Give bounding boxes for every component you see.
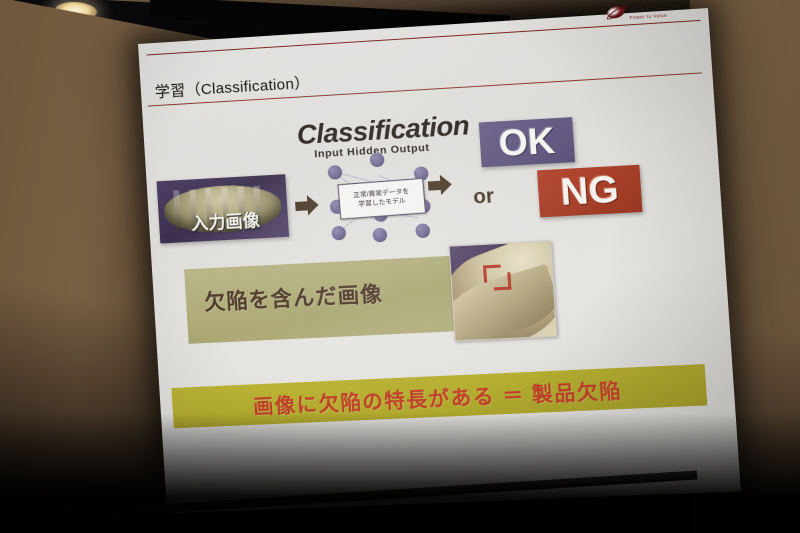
photo-of-projected-slide: 11 / 28 MUSASHi Power to Value 学習（Classi… <box>0 0 800 533</box>
ng-label: NG <box>537 164 643 219</box>
ng-result-badge: NG <box>537 165 642 218</box>
defect-photo <box>449 240 558 341</box>
foreground-shadow <box>0 413 800 533</box>
input-image-card: 入力画像 <box>157 174 290 243</box>
logo-tagline: Power to Value <box>629 12 691 20</box>
input-image-label: 入力画像 <box>162 204 288 236</box>
musashi-logo: MUSASHi Power to Value <box>607 0 692 22</box>
or-label: or <box>473 185 495 210</box>
defect-panel-label: 欠陥を含んだ画像 <box>203 278 383 317</box>
model-callout-box: 正常/異常データを 学習したモデル <box>337 178 426 220</box>
defect-panel: 欠陥を含んだ画像 <box>184 252 530 344</box>
red-corner-bracket-icon <box>493 272 512 290</box>
planet-swoosh-icon <box>606 5 626 21</box>
neural-network-diagram: 正常/異常データを 学習したモデル <box>325 148 435 247</box>
ok-result-badge: OK <box>479 117 575 167</box>
ok-label: OK <box>479 116 575 168</box>
